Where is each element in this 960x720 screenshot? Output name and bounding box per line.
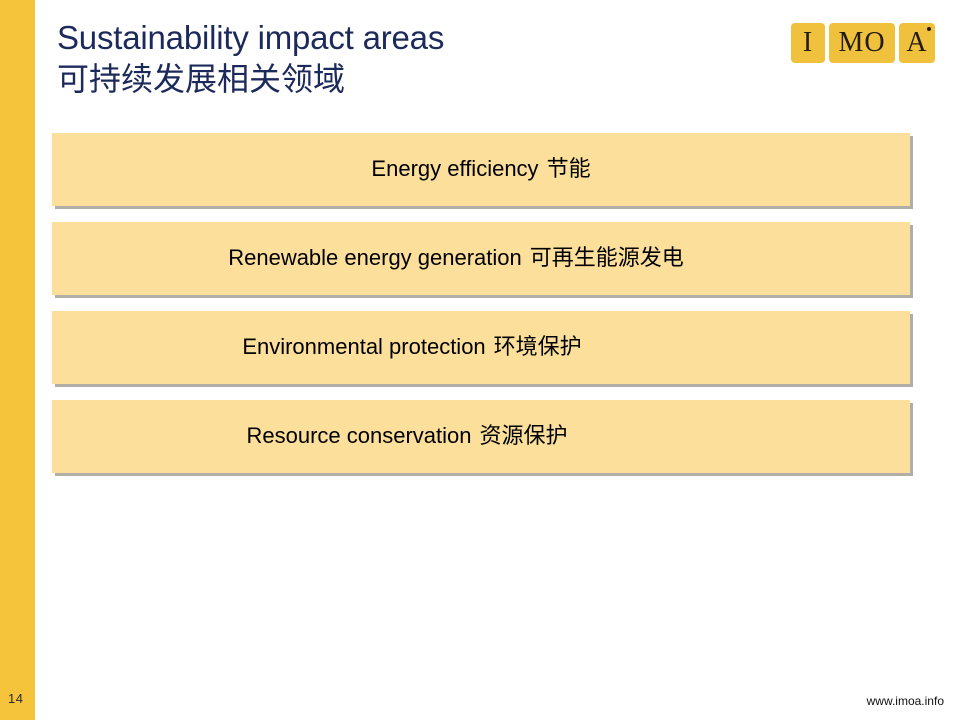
logo-letter-a: A <box>906 29 927 57</box>
impact-area-band[interactable]: Environmental protection环境保护 <box>52 311 910 384</box>
impact-areas-list: Energy efficiency节能 Renewable energy gen… <box>52 133 910 489</box>
impact-area-band[interactable]: Resource conservation资源保护 <box>52 400 910 473</box>
logo-letter-i: I <box>803 29 813 57</box>
impact-area-band[interactable]: Energy efficiency节能 <box>52 133 910 206</box>
impact-area-label-chinese: 资源保护 <box>472 424 568 449</box>
registered-trademark-icon <box>927 27 931 31</box>
impact-area-band[interactable]: Renewable energy generation可再生能源发电 <box>52 222 910 295</box>
impact-area-label: Renewable energy generation可再生能源发电 <box>52 245 910 272</box>
impact-area-label-chinese: 可再生能源发电 <box>522 246 684 271</box>
impact-area-label-english: Resource conservation <box>246 423 471 448</box>
logo-tile-i: I <box>791 23 825 63</box>
impact-area-label-chinese: 节能 <box>539 157 591 182</box>
impact-area-label-chinese: 环境保护 <box>486 335 582 360</box>
slide-title-block: Sustainability impact areas 可持续发展相关领域 <box>57 18 757 100</box>
impact-area-label-english: Energy efficiency <box>371 156 538 181</box>
page-title-english: Sustainability impact areas <box>57 18 757 58</box>
footer-website-url[interactable]: www.imoa.info <box>867 694 944 708</box>
impact-area-label-english: Renewable energy generation <box>228 245 522 270</box>
logo-tile-mo: MO <box>829 23 895 63</box>
impact-area-label: Environmental protection环境保护 <box>52 334 910 361</box>
impact-area-label-english: Environmental protection <box>242 334 485 359</box>
logo-tile-a: A <box>899 23 935 63</box>
impact-area-label: Energy efficiency节能 <box>52 156 910 183</box>
logo-letter-mo: MO <box>838 29 885 57</box>
page-title-chinese: 可持续发展相关领域 <box>57 58 757 100</box>
left-accent-bar: 14 <box>0 0 35 720</box>
page-number: 14 <box>8 691 23 706</box>
impact-area-label: Resource conservation资源保护 <box>52 423 910 450</box>
imoa-logo[interactable]: I MO A <box>791 23 935 63</box>
